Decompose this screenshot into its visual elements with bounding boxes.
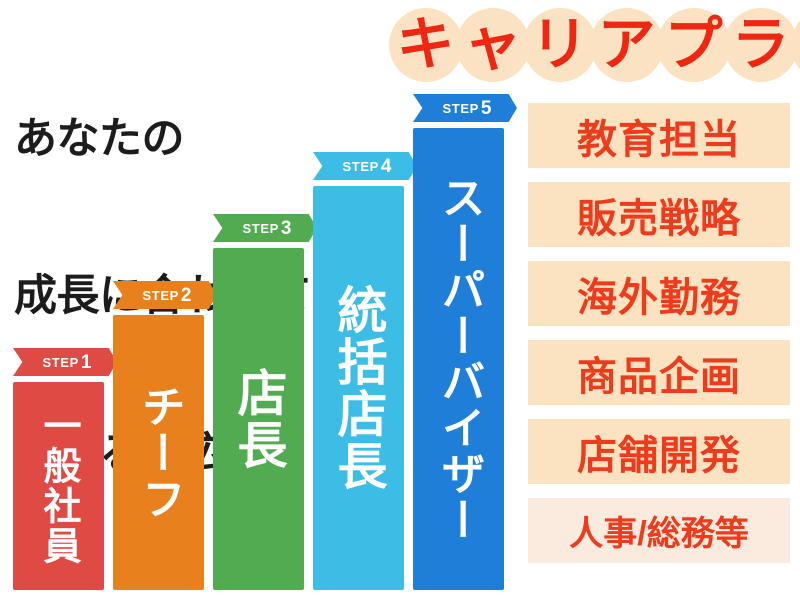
role-option-item[interactable]: 商品企画: [528, 340, 790, 405]
title-character: ラ: [727, 2, 794, 88]
title-glyph: ャ: [459, 2, 526, 88]
role-option-item[interactable]: 海外勤務: [528, 261, 790, 326]
role-option-item[interactable]: 人事/総務等: [528, 498, 790, 563]
career-step-column[interactable]: STEP2チーフ: [113, 281, 204, 590]
step-bar[interactable]: 統括店長: [313, 186, 404, 590]
career-plan-infographic: あなたの 成長に合わせて 選べる幅広い キャリアプラン STEP1一般社員STE…: [0, 0, 800, 600]
step-bar[interactable]: チーフ: [113, 315, 204, 590]
step-position-title: 統括店長: [313, 186, 404, 590]
career-step-column[interactable]: STEP5スーパーバイザー: [413, 94, 504, 590]
role-option-item[interactable]: 教育担当: [528, 103, 790, 168]
step-word-label: STEP: [43, 355, 79, 370]
step-ribbon-banner: STEP3: [213, 214, 317, 242]
title-glyph: プ: [660, 2, 727, 88]
title-glyph: ラ: [727, 2, 794, 88]
step-word-label: STEP: [143, 288, 179, 303]
step-bar[interactable]: 一般社員: [13, 382, 104, 590]
step-bar[interactable]: スーパーバイザー: [413, 128, 504, 590]
career-step-column[interactable]: STEP1一般社員: [13, 348, 104, 590]
career-step-column[interactable]: STEP4統括店長: [313, 152, 404, 590]
step-position-title: チーフ: [113, 315, 204, 590]
step-bar[interactable]: 店長: [213, 248, 304, 590]
step-word-label: STEP: [343, 159, 379, 174]
role-option-item[interactable]: 販売戦略: [528, 182, 790, 247]
step-position-title: 店長: [213, 248, 304, 590]
role-option-item[interactable]: 店舗開発: [528, 419, 790, 484]
step-number-label: 4: [381, 157, 392, 176]
step-word-label: STEP: [243, 221, 279, 236]
title-glyph: リ: [526, 2, 593, 88]
step-number-label: 3: [281, 219, 292, 238]
role-options-list: 教育担当販売戦略海外勤務商品企画店舗開発人事/総務等: [528, 103, 790, 577]
title-character: ン: [794, 2, 800, 88]
page-title: キャリアプラン: [392, 2, 800, 88]
title-glyph: ア: [593, 2, 660, 88]
step-number-label: 1: [81, 353, 92, 372]
step-ribbon-banner: STEP4: [313, 152, 417, 180]
step-word-label: STEP: [443, 101, 479, 116]
step-ribbon-banner: STEP1: [13, 348, 117, 376]
step-number-label: 5: [481, 99, 492, 118]
title-character: ア: [593, 2, 660, 88]
title-glyph: キ: [392, 2, 459, 88]
step-ribbon-banner: STEP2: [113, 281, 217, 309]
step-position-title: スーパーバイザー: [413, 128, 504, 590]
step-ribbon-banner: STEP5: [413, 94, 517, 122]
title-character: ャ: [459, 2, 526, 88]
career-step-chart: STEP1一般社員STEP2チーフSTEP3店長STEP4統括店長STEP5スー…: [0, 0, 520, 600]
step-position-title: 一般社員: [13, 382, 104, 590]
title-character: キ: [392, 2, 459, 88]
career-step-column[interactable]: STEP3店長: [213, 214, 304, 590]
title-character: プ: [660, 2, 727, 88]
title-character: リ: [526, 2, 593, 88]
step-number-label: 2: [181, 286, 192, 305]
title-glyph: ン: [794, 2, 800, 88]
